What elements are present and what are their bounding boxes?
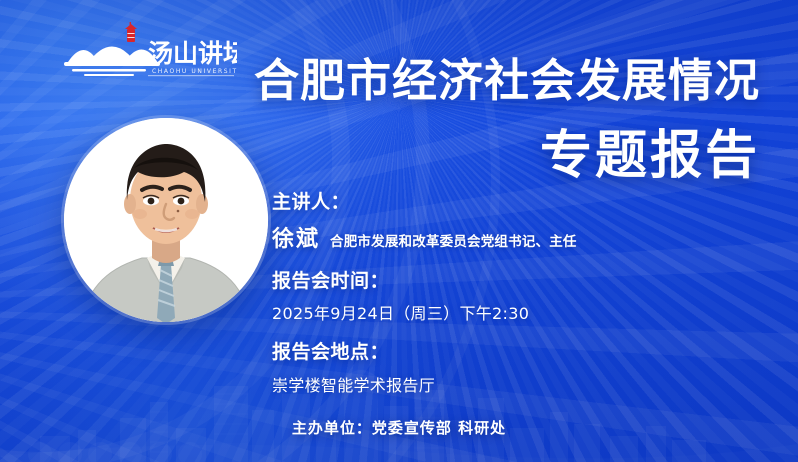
place-value: 崇学楼智能学术报告厅 — [272, 372, 742, 396]
time-label: 报告会时间： — [272, 267, 742, 296]
logo-cn-text: 汤山讲坛 — [148, 39, 237, 68]
logo-en-text: CHAOHU UNIVERSITY — [152, 68, 237, 75]
speaker-title: 合肥市发展和改革委员会党组书记、主任 — [330, 230, 577, 250]
speaker-row: 徐斌 合肥市发展和改革委员会党组书记、主任 — [272, 221, 742, 253]
spacer-2 — [272, 324, 742, 338]
time-value: 2025年9月24日（周三）下午2:30 — [272, 300, 742, 324]
place-label: 报告会地点： — [272, 338, 742, 367]
spacer-1 — [272, 253, 742, 267]
poster-canvas: 汤山讲坛 CHAOHU UNIVERSITY 汤山讲坛 CHAOHU UNIVE… — [0, 0, 798, 462]
speaker-label: 主讲人： — [272, 188, 742, 217]
organizer-text: 主办单位：党委宣传部 科研处 — [292, 417, 506, 438]
footer-block: 主办单位：党委宣传部 科研处 — [0, 417, 798, 438]
poster-title-line-2: 专题报告 — [236, 128, 760, 185]
poster-title-line-1: 合肥市经济社会发展情况 — [236, 56, 760, 106]
brand-logo: 汤山讲坛 CHAOHU UNIVERSITY — [62, 22, 237, 78]
speaker-name: 徐斌 — [272, 221, 320, 253]
headline-block: 合肥市经济社会发展情况 专题报告 — [236, 56, 760, 186]
event-details: 主讲人： 徐斌 合肥市发展和改革委员会党组书记、主任 报告会时间： 2025年9… — [272, 188, 742, 396]
